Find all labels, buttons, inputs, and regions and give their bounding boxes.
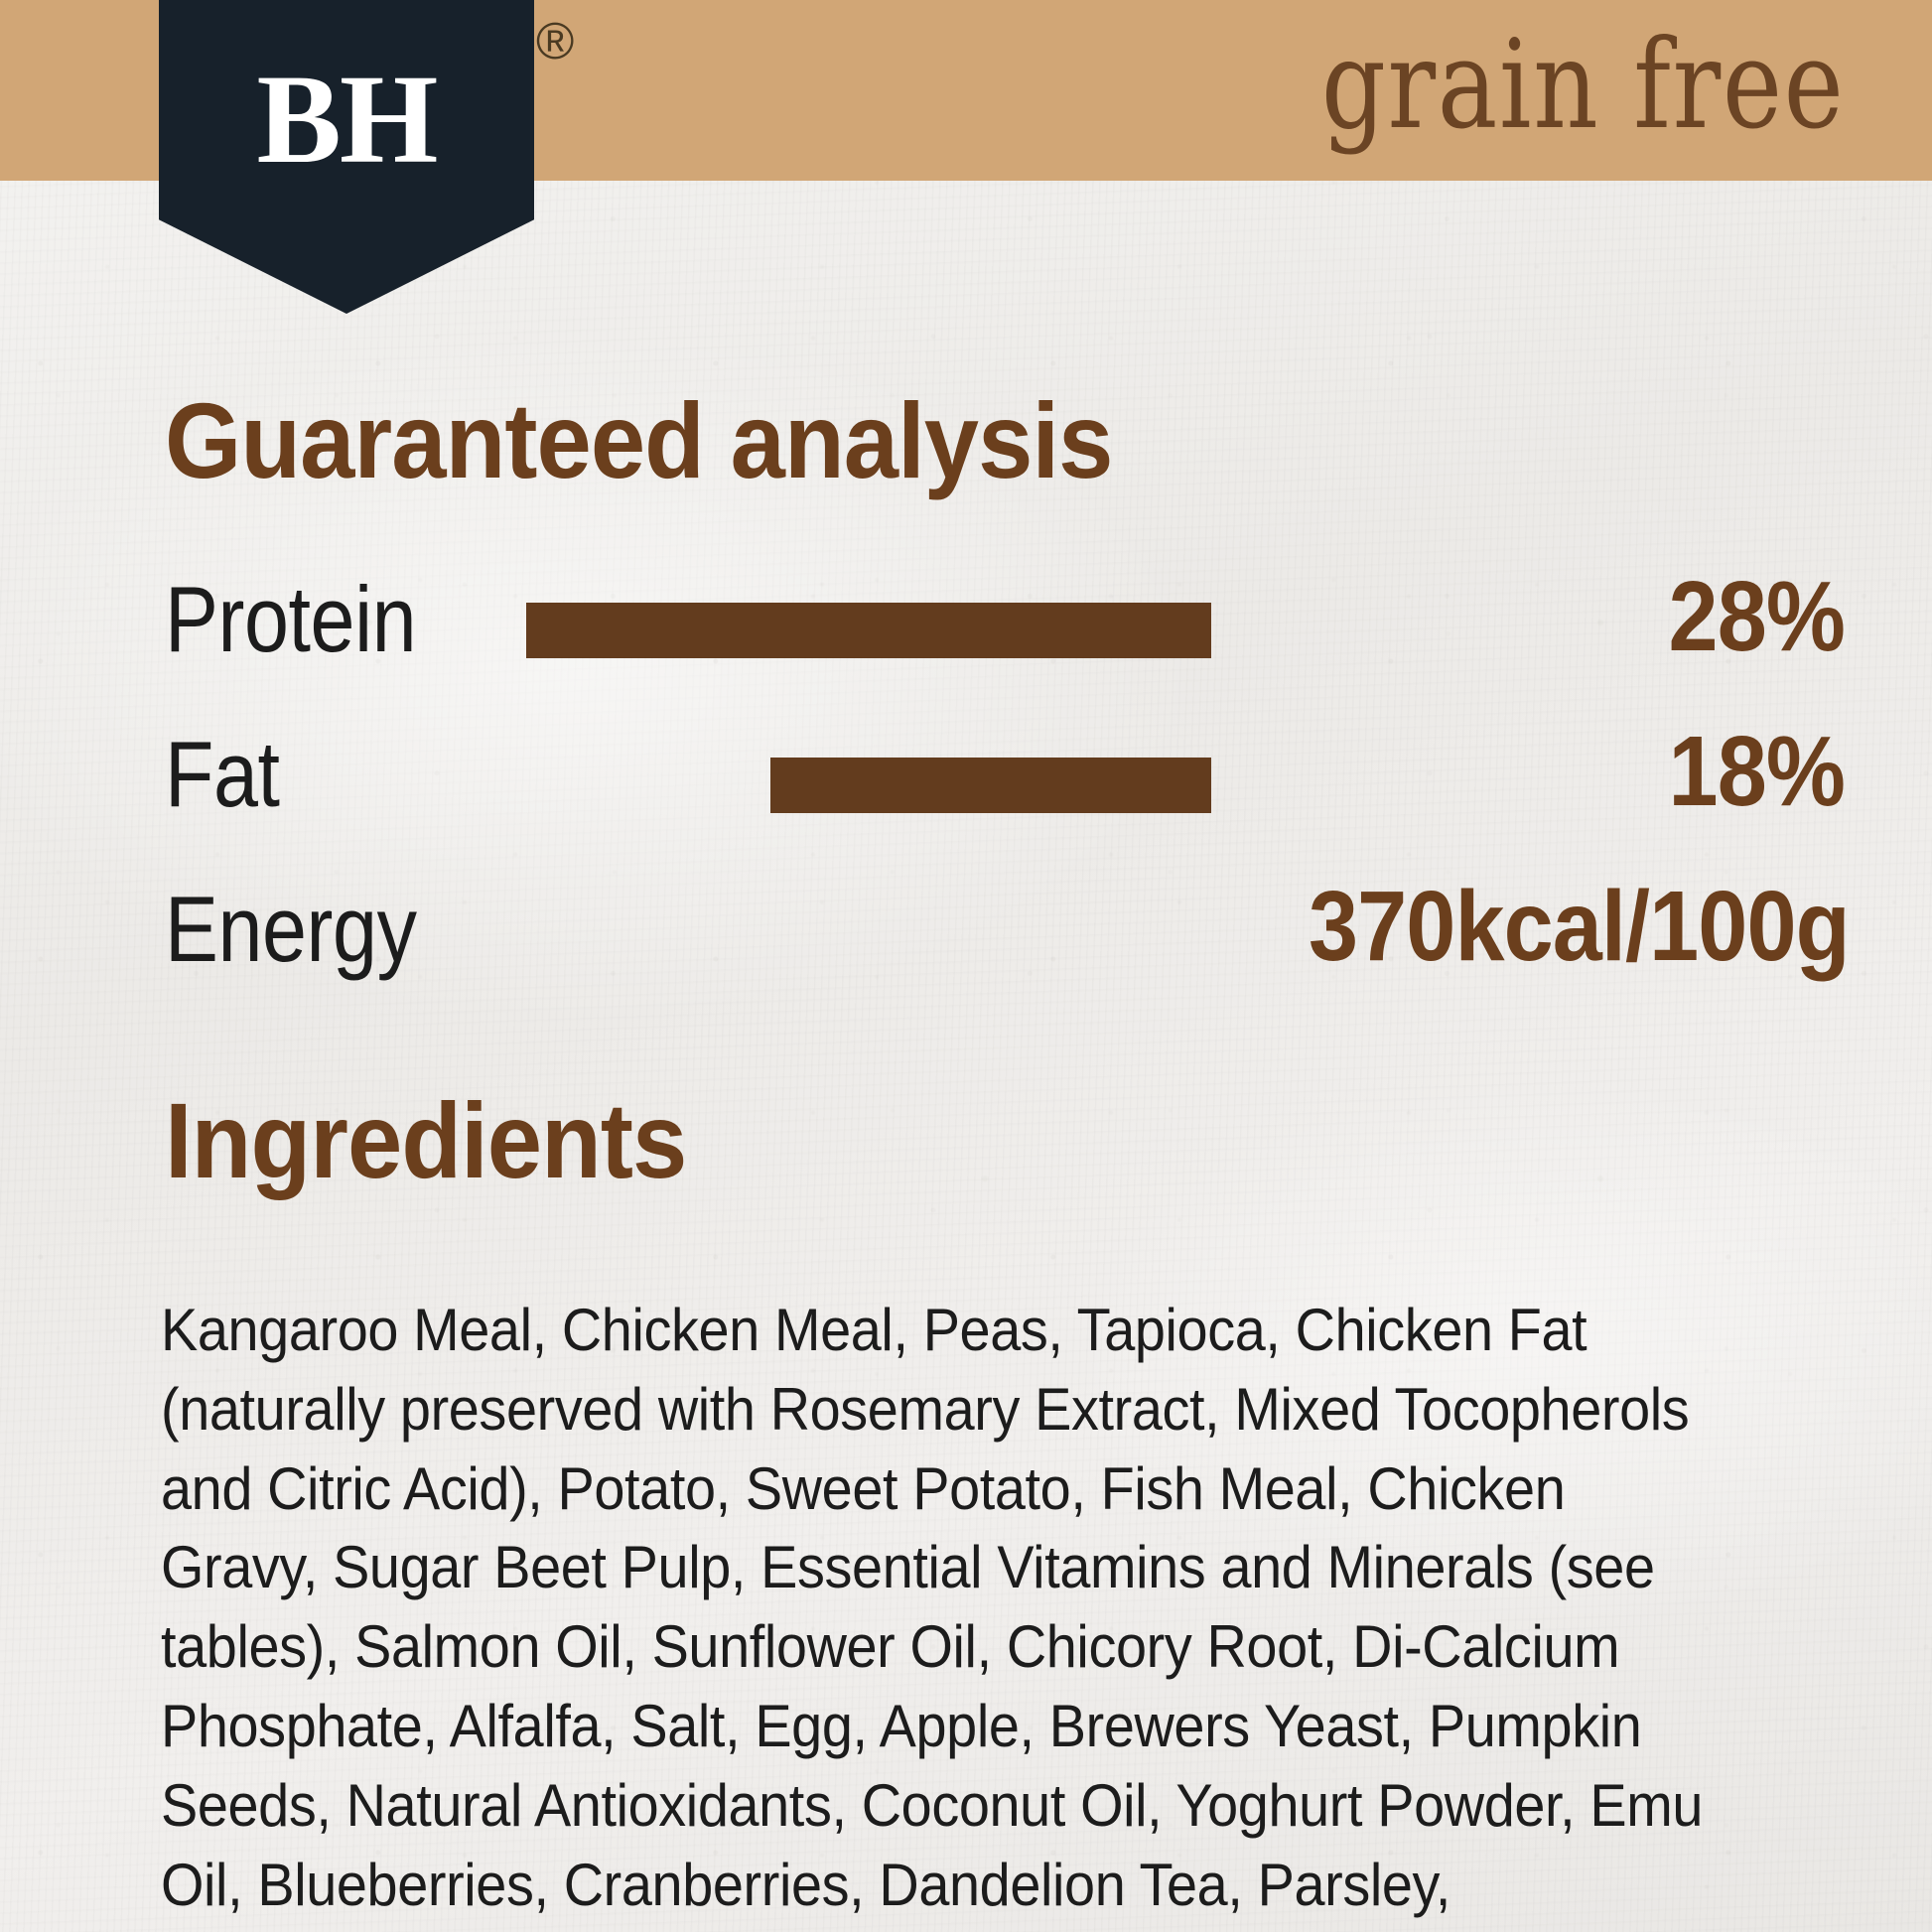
analysis-row-protein: Protein 28%: [0, 571, 1932, 726]
nutrient-bar-fill: [770, 758, 1211, 813]
analysis-row-fat: Fat 18%: [0, 726, 1932, 881]
grain-free-tagline: grain free: [1320, 18, 1845, 153]
guaranteed-analysis-table: Protein 28% Fat 18% Energy 370kcal/100g: [0, 571, 1932, 1035]
brand-initials: BH: [257, 56, 437, 183]
nutrient-value: 370kcal/100g: [1309, 877, 1845, 976]
guaranteed-analysis-heading: Guaranteed analysis: [165, 387, 1112, 494]
nutrient-value: 18%: [1309, 722, 1845, 821]
registered-trademark-icon: ®: [536, 16, 574, 68]
nutrient-bar-fill: [526, 603, 1211, 658]
ingredients-heading: Ingredients: [165, 1087, 686, 1194]
analysis-row-energy: Energy 370kcal/100g: [0, 881, 1932, 1035]
ingredients-text-part-1: Kangaroo Meal, Chicken Meal, Peas, Tapio…: [161, 1297, 1703, 1932]
ingredients-list: Kangaroo Meal, Chicken Meal, Peas, Tapio…: [161, 1291, 1712, 1932]
nutrient-value: 28%: [1309, 567, 1845, 666]
brand-badge: BH: [159, 0, 534, 314]
label-panel: BH ® grain free Guaranteed analysis Prot…: [0, 0, 1932, 1932]
